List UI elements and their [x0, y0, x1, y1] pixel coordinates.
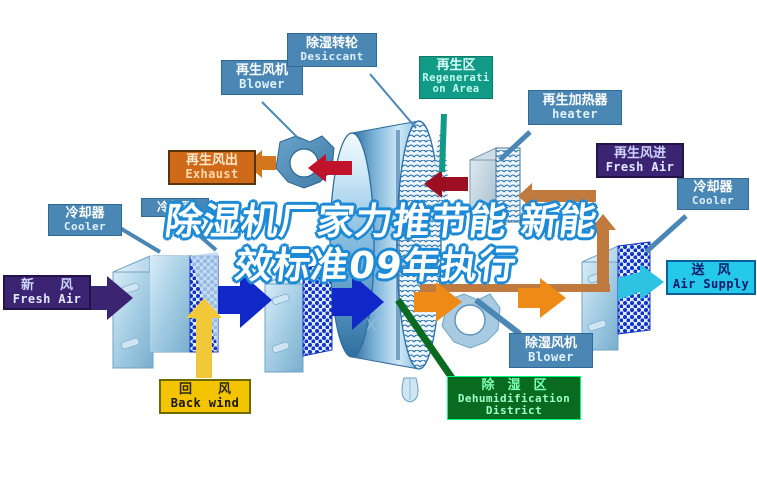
label-desiccant[interactable]: 除湿转轮 Desiccant [287, 33, 377, 67]
label-cooler-right-cn: 冷却器 [680, 181, 746, 195]
label-fresh-air-left-en: Fresh Air [7, 293, 87, 306]
label-cooler-mid-cn: 冷却器 [144, 201, 206, 214]
label-blower-regen-en: Blower [224, 78, 300, 91]
label-air-supply[interactable]: 送 风 Air Supply [666, 260, 756, 295]
label-regen-area-en: Regenerati on Area [422, 73, 490, 96]
label-exhaust-cn: 再生风出 [172, 154, 252, 168]
dehumidifier-diagram: XT [0, 0, 757, 488]
label-fresh-air-regen[interactable]: 再生风进 Fresh Air [596, 143, 684, 178]
label-air-supply-cn: 送 风 [670, 264, 752, 278]
label-fresh-air-left[interactable]: 新 风 Fresh Air [3, 275, 91, 310]
label-regen-heater-en: heater [531, 108, 619, 121]
label-dehum-district[interactable]: 除 湿 区 Dehumidification District [447, 376, 581, 420]
label-back-wind-en: Back wind [163, 397, 247, 410]
label-cooler-right-en: Cooler [680, 195, 746, 207]
label-back-wind-cn: 回 风 [163, 383, 247, 397]
label-exhaust-en: Exhaust [172, 168, 252, 181]
label-air-supply-en: Air Supply [670, 278, 752, 291]
label-desiccant-cn: 除湿转轮 [290, 37, 374, 51]
label-regen-heater-cn: 再生加热器 [531, 94, 619, 108]
label-desiccant-en: Desiccant [290, 51, 374, 63]
watermark: XT [366, 316, 386, 334]
arrow-process-blue-1[interactable] [218, 272, 272, 328]
label-blower-dehum[interactable]: 除湿风机 Blower [509, 333, 593, 368]
arrow-fresh-air-in[interactable] [518, 183, 596, 209]
regen-heater-unit [470, 148, 520, 234]
label-dehum-district-en: Dehumidification District [450, 393, 578, 417]
label-cooler-right[interactable]: 冷却器 Cooler [677, 178, 749, 210]
label-regen-area[interactable]: 再生区 Regenerati on Area [419, 56, 493, 99]
label-exhaust[interactable]: 再生风出 Exhaust [168, 150, 256, 185]
diagram-canvas: XT [0, 0, 757, 488]
label-cooler-left-cn: 冷却器 [51, 207, 119, 221]
label-dehum-district-cn: 除 湿 区 [450, 379, 578, 393]
label-blower-dehum-en: Blower [512, 351, 590, 364]
label-cooler-left[interactable]: 冷却器 Cooler [48, 204, 122, 236]
label-cooler-left-en: Cooler [51, 221, 119, 233]
label-regen-heater[interactable]: 再生加热器 heater [528, 90, 622, 125]
cooler-unit-mid [265, 264, 332, 372]
label-regen-area-cn: 再生区 [422, 59, 490, 73]
label-fresh-air-left-cn: 新 风 [7, 279, 87, 293]
label-fresh-air-regen-en: Fresh Air [600, 161, 680, 174]
label-cooler-mid[interactable]: 冷却器 [141, 198, 209, 217]
arrow-fresh-air-base [420, 284, 610, 292]
label-blower-dehum-cn: 除湿风机 [512, 337, 590, 351]
label-back-wind[interactable]: 回 风 Back wind [159, 379, 251, 414]
label-fresh-air-regen-cn: 再生风进 [600, 147, 680, 161]
